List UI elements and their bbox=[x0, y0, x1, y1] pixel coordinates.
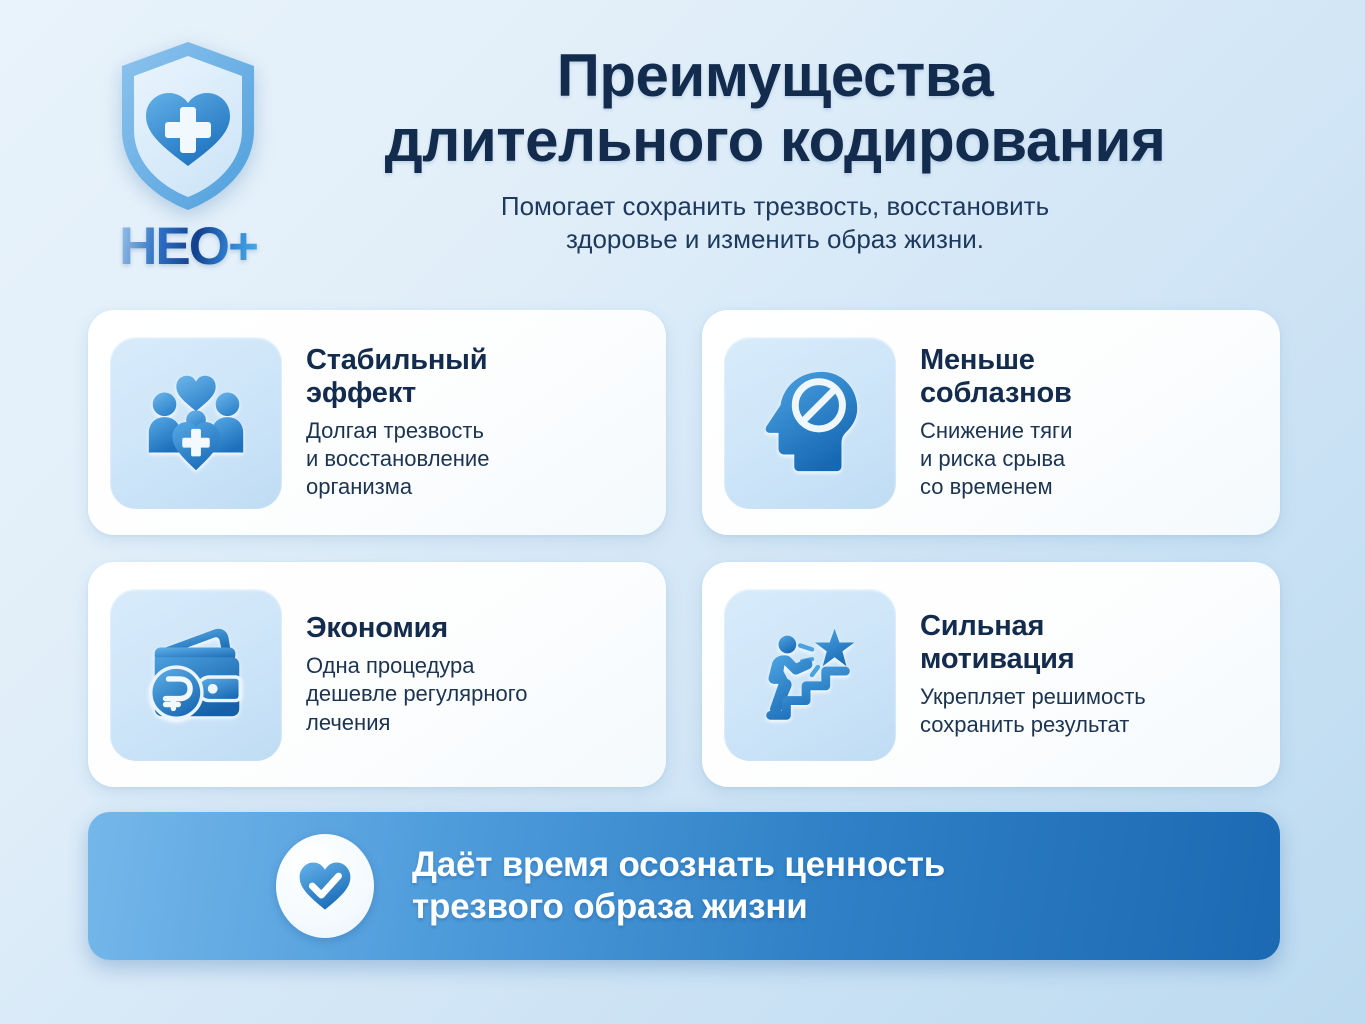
benefit-card-desc: Долгая трезвость и восстановление органи… bbox=[306, 417, 640, 501]
benefit-card-text: Стабильный эффект Долгая трезвость и вос… bbox=[282, 344, 644, 502]
benefit-card-desc: Снижение тяги и риска срыва со временем bbox=[920, 417, 1254, 501]
benefit-card-desc-line-1: Укрепляет решимость bbox=[920, 683, 1254, 711]
benefit-card-title-line-1: Экономия bbox=[306, 612, 640, 645]
stairs-star-person-icon bbox=[724, 589, 896, 761]
benefit-card-stable-effect[interactable]: Стабильный эффект Долгая трезвость и вос… bbox=[88, 310, 666, 535]
benefit-card-desc-line-2: и восстановление bbox=[306, 445, 640, 473]
benefit-card-title: Сильная мотивация bbox=[920, 610, 1254, 676]
page-subtitle: Помогает сохранить трезвость, восстанови… bbox=[270, 190, 1280, 257]
benefit-card-desc-line-2: дешевле регулярного bbox=[306, 680, 640, 708]
title-block: Преимущества длительного кодирования Пом… bbox=[270, 44, 1280, 256]
summary-banner[interactable]: Даёт время осознать ценность трезвого об… bbox=[88, 812, 1280, 960]
wallet-ruble-icon bbox=[110, 589, 282, 761]
header: HEO+ Преимущества длительного кодировани… bbox=[0, 0, 1365, 305]
benefit-card-desc: Одна процедура дешевле регулярного лечен… bbox=[306, 652, 640, 736]
summary-banner-line-1: Даёт время осознать ценность bbox=[412, 844, 945, 886]
benefit-card-text: Сильная мотивация Укрепляет решимость со… bbox=[896, 610, 1258, 739]
benefit-card-text: Экономия Одна процедура дешевле регулярн… bbox=[282, 612, 644, 737]
benefit-card-title-line-2: эффект bbox=[306, 377, 640, 410]
benefit-card-title-line-2: соблазнов bbox=[920, 377, 1254, 410]
brand-logo: HEO+ bbox=[78, 38, 298, 288]
benefit-card-motivation[interactable]: Сильная мотивация Укрепляет решимость со… bbox=[702, 562, 1280, 787]
benefit-card-fewer-temptations[interactable]: Меньше соблазнов Снижение тяги и риска с… bbox=[702, 310, 1280, 535]
page-title: Преимущества длительного кодирования bbox=[270, 44, 1280, 174]
benefit-card-title-line-1: Сильная bbox=[920, 610, 1254, 643]
brand-wordmark: HEO+ bbox=[119, 220, 257, 273]
benefit-card-desc-line-2: сохранить результат bbox=[920, 711, 1254, 739]
benefit-card-grid: Стабильный эффект Долгая трезвость и вос… bbox=[88, 310, 1280, 787]
benefit-card-desc-line-1: Одна процедура bbox=[306, 652, 640, 680]
benefit-card-desc-line-1: Снижение тяги bbox=[920, 417, 1254, 445]
heart-check-icon bbox=[276, 834, 374, 938]
page-title-line-2: длительного кодирования bbox=[270, 109, 1280, 174]
benefit-card-title-line-1: Меньше bbox=[920, 344, 1254, 377]
infographic-root: HEO+ Преимущества длительного кодировани… bbox=[0, 0, 1365, 1024]
summary-banner-text: Даёт время осознать ценность трезвого об… bbox=[412, 844, 945, 928]
benefit-card-savings[interactable]: Экономия Одна процедура дешевле регулярн… bbox=[88, 562, 666, 787]
benefit-card-desc-line-2: и риска срыва bbox=[920, 445, 1254, 473]
head-no-entry-icon bbox=[724, 337, 896, 509]
benefit-card-title-line-1: Стабильный bbox=[306, 344, 640, 377]
benefit-card-title: Меньше соблазнов bbox=[920, 344, 1254, 410]
benefit-card-title-line-2: мотивация bbox=[920, 643, 1254, 676]
benefit-card-desc: Укрепляет решимость сохранить результат bbox=[920, 683, 1254, 739]
benefit-card-text: Меньше соблазнов Снижение тяги и риска с… bbox=[896, 344, 1258, 502]
benefit-card-desc-line-3: лечения bbox=[306, 709, 640, 737]
benefit-card-desc-line-1: Долгая трезвость bbox=[306, 417, 640, 445]
benefit-card-desc-line-3: организма bbox=[306, 473, 640, 501]
page-title-line-1: Преимущества bbox=[270, 44, 1280, 109]
summary-banner-line-2: трезвого образа жизни bbox=[412, 886, 945, 928]
page-subtitle-line-1: Помогает сохранить трезвость, восстанови… bbox=[270, 190, 1280, 223]
benefit-card-title: Экономия bbox=[306, 612, 640, 645]
page-subtitle-line-2: здоровье и изменить образ жизни. bbox=[270, 223, 1280, 256]
family-heart-plus-icon bbox=[110, 337, 282, 509]
shield-heart-plus-icon bbox=[112, 38, 264, 214]
benefit-card-title: Стабильный эффект bbox=[306, 344, 640, 410]
benefit-card-desc-line-3: со временем bbox=[920, 473, 1254, 501]
